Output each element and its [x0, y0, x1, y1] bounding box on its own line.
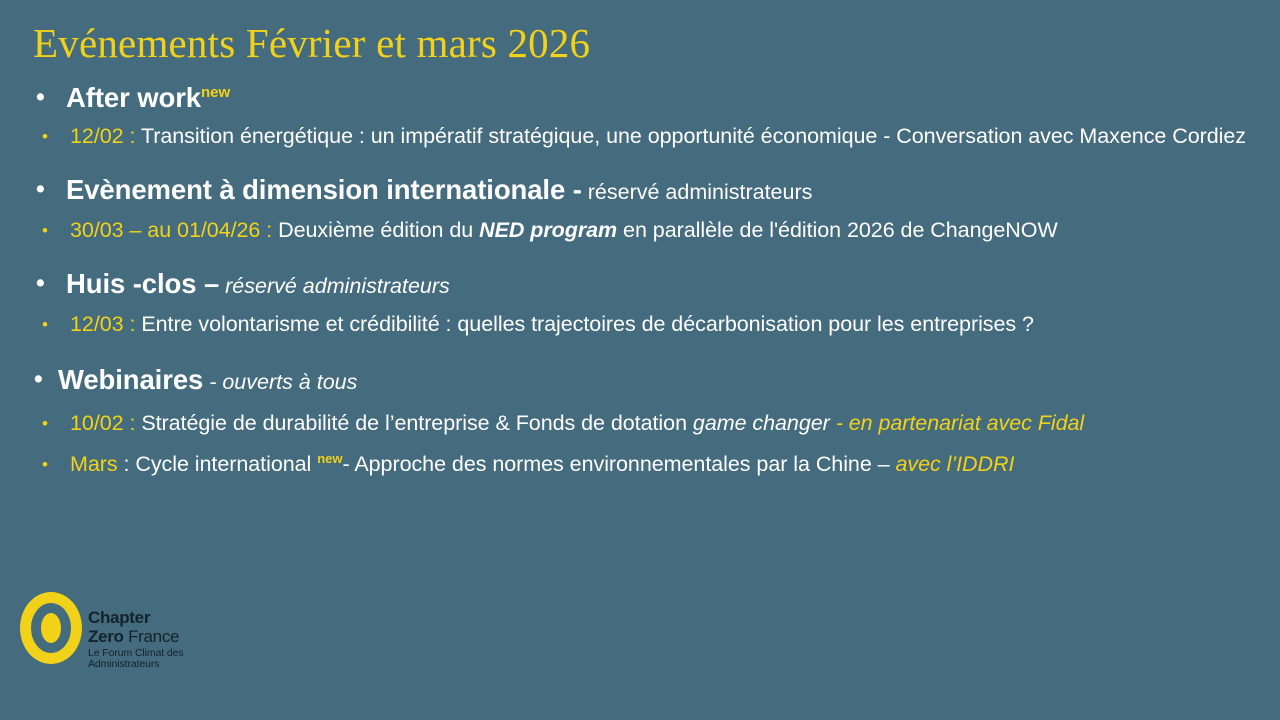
logo-wordmark: Chapter Zero France Le Forum Climat des …: [88, 609, 256, 669]
list-item: 10/02 : Stratégie de durabilité de l’ent…: [28, 410, 1258, 437]
list-item: Mars : Cycle international new- Approche…: [28, 451, 1258, 478]
section-heading-text: Evènement à dimension internationale -: [66, 174, 582, 205]
logo-tagline: Le Forum Climat des Administrateurs: [88, 648, 256, 669]
event-description: Entre volontarisme et crédibilité : quel…: [135, 312, 1034, 336]
chapter-zero-france-logo: Chapter Zero France Le Forum Climat des …: [16, 592, 256, 668]
event-description: Transition énergétique : un impératif st…: [135, 124, 1246, 148]
logo-france-text: France: [124, 627, 180, 646]
event-date: 12/02 :: [70, 124, 135, 148]
list-item: 12/02 : Transition énergétique : un impé…: [28, 123, 1258, 150]
new-badge: new: [201, 84, 230, 101]
list-item: 30/03 – au 01/04/26 : Deuxième édition d…: [28, 217, 1258, 244]
slide-canvas: Evénements Février et mars 2026 After wo…: [0, 0, 1280, 720]
section-heading-suffix: réservé administrateurs: [219, 274, 450, 298]
section-heading-text: Webinaires: [58, 364, 203, 395]
page-title: Evénements Février et mars 2026: [33, 19, 590, 67]
new-badge: new: [317, 451, 342, 466]
event-description-after: - Approche des normes environnementales …: [343, 452, 896, 476]
section-heading-webinaires: Webinaires - ouverts à tous: [28, 362, 1258, 400]
event-description-before: Deuxième édition du: [272, 218, 479, 242]
list-item: 12/03 : Entre volontarisme et crédibilit…: [28, 311, 1258, 338]
event-date: 10/02 :: [70, 411, 135, 435]
event-emphasis: NED program: [479, 218, 617, 242]
section-heading-evenement-international: Evènement à dimension internationale - r…: [28, 172, 1258, 210]
event-date: Mars: [70, 452, 124, 476]
section-heading-after-work: After worknew: [28, 80, 1258, 116]
event-description-after: en parallèle de l'édition 2026 de Change…: [617, 218, 1058, 242]
section-heading-suffix: réservé administrateurs: [582, 180, 813, 204]
o-ring-icon: [20, 592, 82, 664]
section-heading-text: After work: [66, 82, 201, 113]
event-partner: - en partenariat avec Fidal: [830, 411, 1084, 435]
o-ring-inner-dot-icon: [41, 613, 61, 643]
logo-line-chapter: Chapter: [88, 609, 256, 626]
event-description-before: : Cycle international: [124, 452, 318, 476]
event-description-before: Stratégie de durabilité de l’entreprise …: [135, 411, 693, 435]
section-heading-huis-clos: Huis -clos – réservé administrateurs: [28, 266, 1258, 304]
event-date: 12/03 :: [70, 312, 135, 336]
content-outline: After worknew 12/02 : Transition énergét…: [28, 80, 1258, 482]
logo-zero-text: Zero: [88, 627, 124, 646]
section-heading-text: Huis -clos –: [66, 268, 219, 299]
event-partner: avec l’IDDRI: [896, 452, 1015, 476]
event-date: 30/03 – au 01/04/26 :: [70, 218, 272, 242]
event-emphasis: game changer: [693, 411, 830, 435]
logo-line-zero-france: Zero France: [88, 628, 256, 645]
section-heading-suffix: - ouverts à tous: [203, 370, 357, 394]
